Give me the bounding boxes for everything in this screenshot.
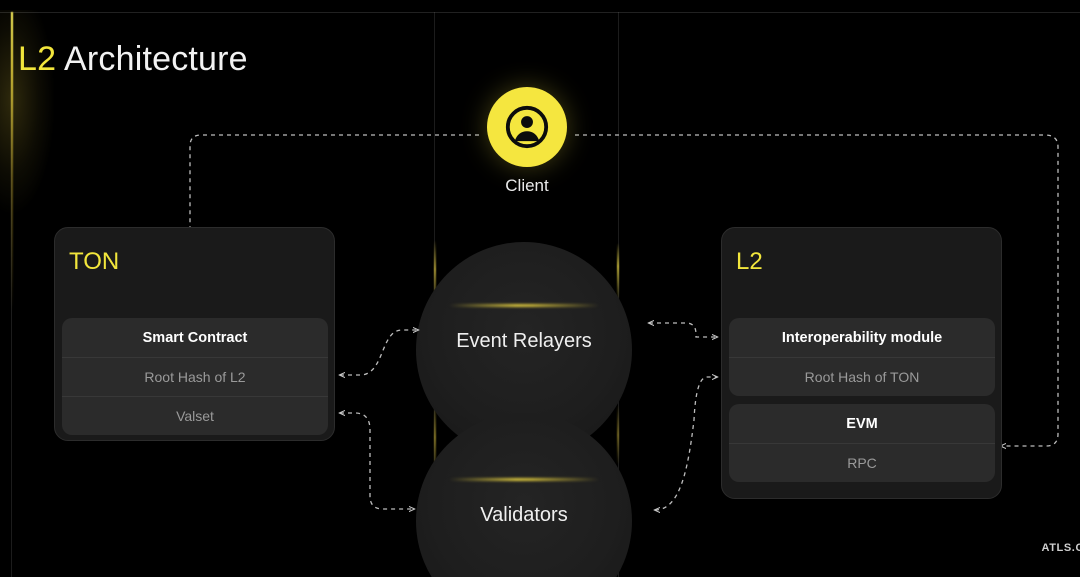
panel-ton[interactable]: TON Smart Contract Root Hash of L2 Valse… <box>54 227 335 441</box>
left-glow-line <box>11 12 13 312</box>
ton-row-root-hash-of-l2[interactable]: Root Hash of L2 <box>62 357 328 396</box>
node-client[interactable] <box>487 87 567 167</box>
right-glow-segment-top <box>617 243 619 301</box>
wire-relayers-to-interop <box>649 323 717 337</box>
l2-row-root-hash-of-ton[interactable]: Root Hash of TON <box>729 357 995 396</box>
wire-validators-to-roothash-ton <box>655 377 717 510</box>
l2-row-interoperability-module[interactable]: Interoperability module <box>729 318 995 357</box>
ton-row-smart-contract[interactable]: Smart Contract <box>62 318 328 357</box>
title-accent: L2 <box>18 40 56 78</box>
ton-row-valset[interactable]: Valset <box>62 396 328 435</box>
panel-ton-title: TON <box>69 248 119 276</box>
ton-card[interactable]: Smart Contract Root Hash of L2 Valset <box>62 318 328 435</box>
watermark: ATLS.C <box>1041 542 1080 554</box>
panel-l2-title: L2 <box>736 248 763 276</box>
validators-glow <box>449 478 599 481</box>
page-title: L2 Architecture <box>18 40 248 79</box>
event-relayers-label: Event Relayers <box>394 330 654 353</box>
client-label: Client <box>447 176 607 196</box>
title-rest: Architecture <box>56 40 248 78</box>
account-circle-icon <box>504 104 550 150</box>
panel-l2[interactable]: L2 Interoperability module Root Hash of … <box>721 227 1002 499</box>
grid-line-horizontal <box>0 12 1080 13</box>
slide-canvas: L2 Architecture Event Relayers Validator… <box>0 0 1080 577</box>
node-validators[interactable] <box>416 413 632 577</box>
l2-card-evm[interactable]: EVM RPC <box>729 404 995 482</box>
validators-label: Validators <box>394 504 654 527</box>
l2-card-interop[interactable]: Interoperability module Root Hash of TON <box>729 318 995 396</box>
l2-row-rpc[interactable]: RPC <box>729 443 995 482</box>
event-relayers-glow <box>449 304 599 307</box>
wire-valset-to-validators <box>340 413 414 509</box>
right-glow-segment-bottom <box>617 405 619 465</box>
l2-row-evm[interactable]: EVM <box>729 404 995 443</box>
